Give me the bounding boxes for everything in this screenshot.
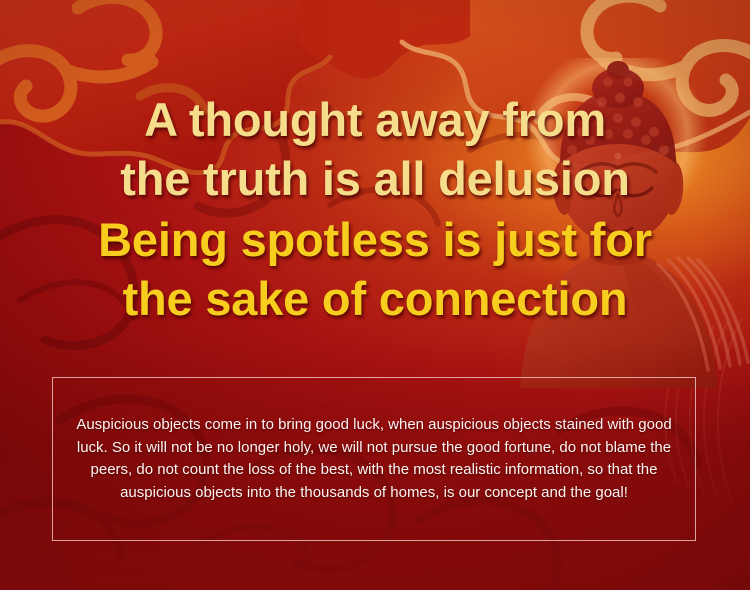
body-text-panel: Auspicious objects come in to bring good…	[52, 377, 696, 541]
headline-line-3: Being spotless is just for	[0, 216, 750, 263]
headline-line-4: the sake of connection	[0, 275, 750, 322]
headline-block: A thought away from the truth is all del…	[0, 96, 750, 322]
headline-line-2: the truth is all delusion	[0, 155, 750, 202]
body-paragraph: Auspicious objects come in to bring good…	[75, 414, 673, 504]
headline-line-1: A thought away from	[0, 96, 750, 143]
poster-image: A thought away from the truth is all del…	[0, 0, 750, 590]
